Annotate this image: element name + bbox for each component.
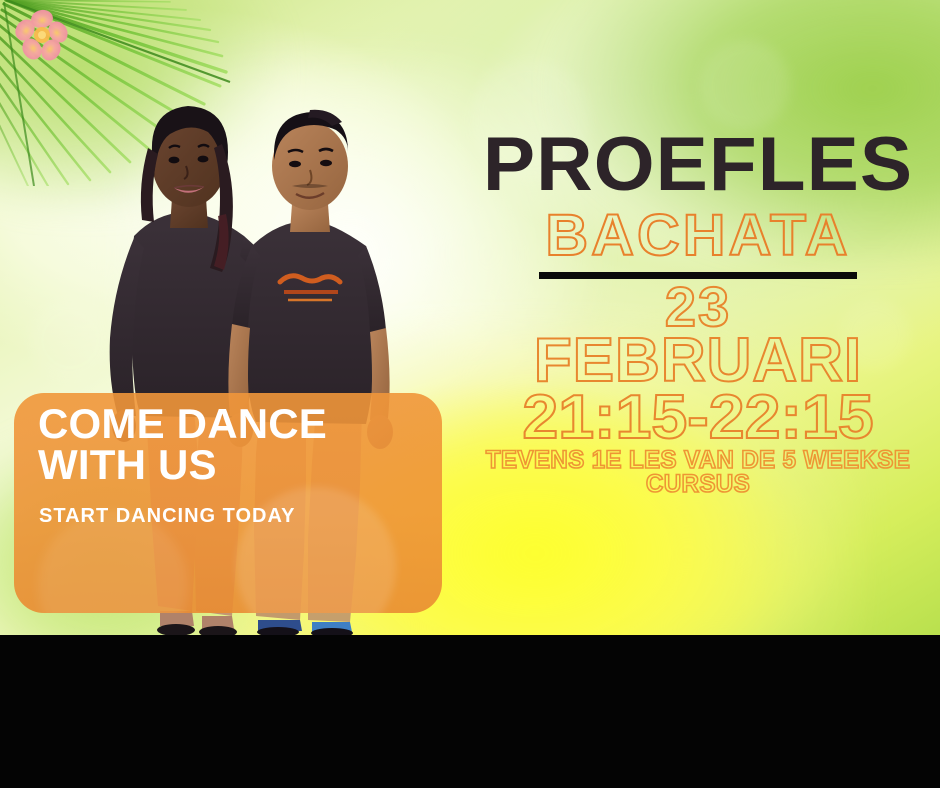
letterbox-bar: [0, 635, 940, 788]
cta-heading: COME DANCE WITH US: [38, 403, 432, 485]
event-day: 23: [462, 281, 934, 333]
come-dance-cta-panel[interactable]: COME DANCE WITH US START DANCING TODAY: [14, 393, 442, 613]
flyer-artboard: COME DANCE WITH US START DANCING TODAY P…: [0, 0, 940, 635]
cta-subheading: START DANCING TODAY: [39, 505, 295, 528]
page-title: PROEFLES: [455, 130, 940, 200]
bokeh-circle: [700, 40, 790, 130]
dance-style-title: BACHATA: [457, 208, 938, 264]
plumeria-flower-icon: [14, 8, 70, 62]
event-note: TEVENS 1E LES VAN DE 5 WEEKSE CURSUS: [469, 448, 927, 496]
event-time: 21:15-22:15: [453, 389, 940, 446]
event-month: FEBRUARI: [462, 332, 934, 389]
poster-root: COME DANCE WITH US START DANCING TODAY P…: [0, 0, 940, 788]
event-info-block: PROEFLES BACHATA 23 FEBRUARI 21:15-22:15…: [462, 130, 934, 496]
